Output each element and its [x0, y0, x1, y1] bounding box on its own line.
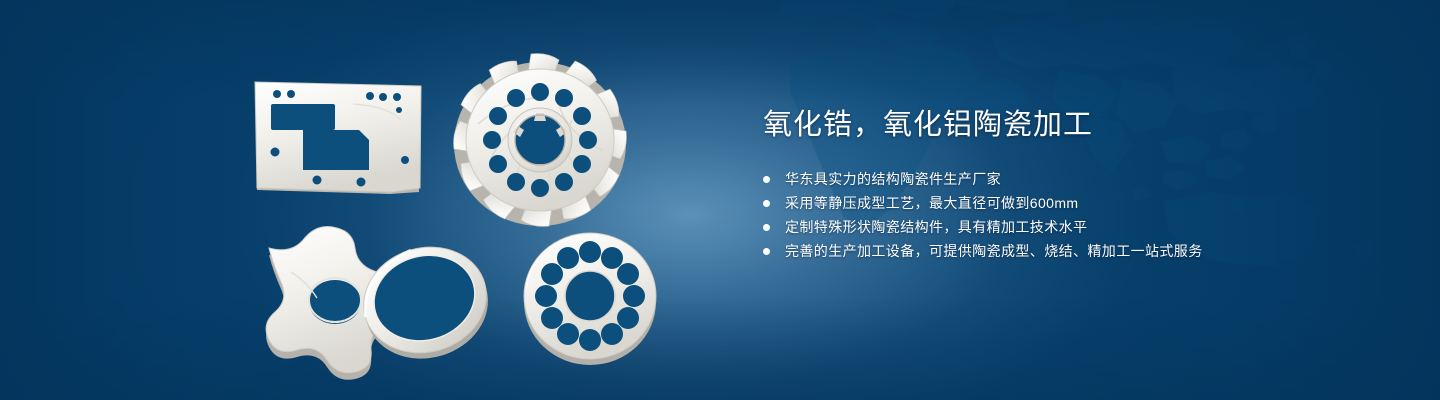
list-item-label: 完善的生产加工设备，可提供陶瓷成型、烧结、精加工一站式服务 [785, 243, 1203, 259]
dot-icon [763, 224, 770, 231]
list-item: 定制特殊形状陶瓷结构件，具有精加工技术水平 [763, 215, 1323, 239]
dot-icon [763, 176, 770, 183]
ceramic-thin-ring [351, 233, 501, 373]
list-item: 采用等静压成型工艺，最大直径可做到600mm [763, 191, 1323, 215]
ceramic-parts-photo [235, 42, 705, 382]
list-item: 完善的生产加工设备，可提供陶瓷成型、烧结、精加工一站式服务 [763, 239, 1323, 263]
ceramic-flat-plate [255, 82, 421, 194]
banner-copy: 氧化锆，氧化铝陶瓷加工 华东具实力的结构陶瓷件生产厂家 采用等静压成型工艺，最大… [763, 108, 1323, 263]
dot-icon [763, 200, 770, 207]
ceramic-vaned-impeller [454, 54, 627, 227]
list-item-label: 华东具实力的结构陶瓷件生产厂家 [785, 171, 1001, 187]
dot-icon [763, 248, 770, 255]
feature-list: 华东具实力的结构陶瓷件生产厂家 采用等静压成型工艺，最大直径可做到600mm 定… [763, 167, 1323, 263]
list-item: 华东具实力的结构陶瓷件生产厂家 [763, 167, 1323, 191]
list-item-label: 定制特殊形状陶瓷结构件，具有精加工技术水平 [785, 219, 1087, 235]
list-item-label: 采用等静压成型工艺，最大直径可做到600mm [785, 195, 1078, 211]
ceramic-perforated-ring-plate [524, 233, 656, 365]
hero-banner: 氧化锆，氧化铝陶瓷加工 华东具实力的结构陶瓷件生产厂家 采用等静压成型工艺，最大… [0, 0, 1440, 400]
page-title: 氧化锆，氧化铝陶瓷加工 [763, 108, 1323, 142]
